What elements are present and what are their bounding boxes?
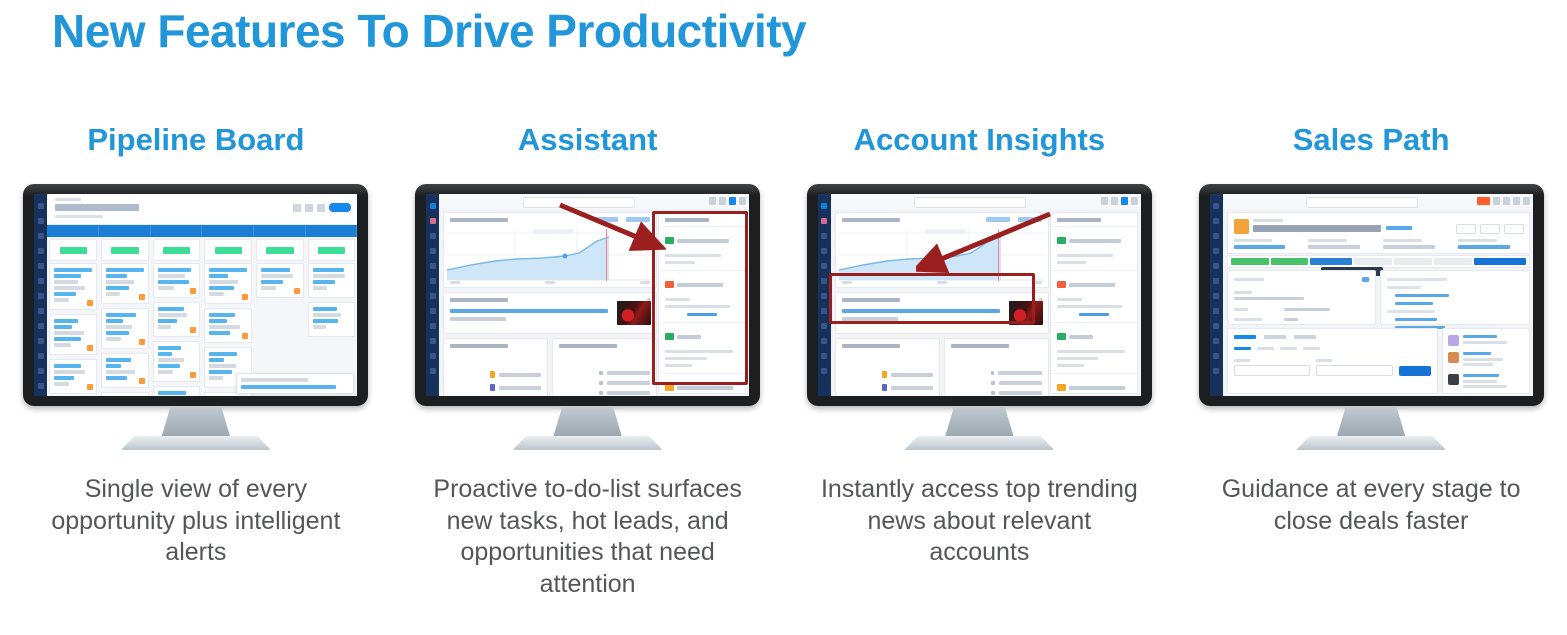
rail-icon (1213, 203, 1219, 209)
rank-number (599, 391, 603, 395)
alert-icon (87, 345, 93, 351)
rail-icon (430, 293, 436, 299)
activity-tabs[interactable] (1234, 335, 1316, 339)
activity-form (1234, 359, 1431, 376)
record-title (1253, 225, 1381, 232)
help-icon[interactable] (1101, 197, 1108, 205)
assistant-item[interactable] (659, 322, 745, 373)
inline-edit-icon[interactable] (1362, 277, 1369, 282)
rail-icon (430, 353, 436, 359)
list-item[interactable] (490, 384, 541, 391)
rank-number (991, 391, 995, 395)
rank-number (599, 371, 603, 375)
mark-stage-complete-button[interactable] (1474, 258, 1526, 265)
record-icon (490, 371, 495, 378)
feature-column-account-insights: Account Insights (784, 118, 1176, 600)
x-tick-label (842, 281, 852, 284)
stage-amount (308, 239, 356, 261)
record-highlight-fields (1234, 239, 1523, 249)
avatar (1448, 335, 1459, 346)
monitor-stand-base (513, 436, 663, 450)
header-icons[interactable] (1101, 197, 1138, 205)
feature-heading-account-insights: Account Insights (854, 118, 1105, 162)
global-header (1223, 194, 1533, 210)
filter-icon[interactable] (293, 204, 301, 212)
rank-number (991, 371, 995, 375)
record-detail-row (1227, 270, 1530, 325)
list-item[interactable] (599, 381, 650, 385)
x-tick-label (937, 281, 947, 284)
opportunity-card[interactable] (101, 353, 149, 388)
rail-icon (430, 338, 436, 344)
tab-collaborate[interactable] (1264, 335, 1286, 339)
record-type-label (1253, 219, 1283, 222)
kanban-column (101, 263, 149, 396)
feature-column-sales-path: Sales Path (1175, 118, 1567, 600)
rank-number (599, 381, 603, 385)
opportunity-card[interactable] (308, 263, 356, 298)
monitor-bezel (807, 184, 1152, 406)
tab-activity[interactable] (1234, 335, 1256, 339)
alert-icon (294, 288, 300, 294)
feature-heading-sales-path: Sales Path (1293, 118, 1450, 162)
chart-x-axis-labels (450, 281, 650, 284)
avatar (1448, 374, 1459, 385)
dashboard (831, 209, 1141, 396)
subtab-log-call[interactable] (1234, 347, 1251, 350)
app-nav-rail[interactable] (426, 194, 439, 396)
rail-icon (821, 308, 827, 314)
avatar[interactable] (1523, 197, 1530, 205)
follow-button[interactable] (1386, 226, 1412, 230)
alert-icon (190, 372, 196, 378)
rail-icon (821, 323, 827, 329)
performance-chart-panel (835, 212, 1049, 288)
news-thumbnail-image (1009, 301, 1043, 325)
opportunity-card[interactable] (308, 302, 356, 337)
rail-icon (1213, 293, 1219, 299)
field-amount (1383, 239, 1448, 249)
tab-details[interactable] (1294, 335, 1316, 339)
rail-icon (430, 203, 436, 209)
screenshot-record-sales-path (1210, 194, 1533, 396)
rail-icon (430, 308, 436, 314)
rail-icon (1213, 308, 1219, 314)
rail-icon (821, 368, 827, 374)
subtab-email[interactable] (1303, 347, 1320, 350)
performance-area-chart (447, 229, 652, 281)
assistant-item[interactable] (659, 270, 745, 322)
top-deals-title (559, 344, 617, 348)
news-panel-title (450, 298, 508, 302)
dashboard-main-column (443, 212, 657, 394)
kanban-column (49, 263, 97, 396)
chart-legend (594, 217, 650, 222)
stage-amount (204, 239, 252, 261)
avatar[interactable] (739, 197, 746, 205)
rail-icon (1213, 323, 1219, 329)
recent-records-list (842, 371, 933, 396)
stage-header[interactable] (151, 225, 203, 237)
notifications-icon[interactable] (1121, 197, 1128, 205)
recent-records-title (450, 344, 508, 348)
x-tick-label (640, 281, 650, 284)
related-record-link[interactable] (1395, 318, 1437, 321)
path-stage-upcoming[interactable] (1354, 258, 1392, 265)
opportunity-icon (665, 384, 674, 391)
chatter-feed-panel (1442, 328, 1530, 394)
chart-panel-title (450, 218, 508, 222)
goal-marker-line (998, 229, 999, 281)
opportunity-card[interactable] (204, 263, 252, 304)
global-header (831, 194, 1141, 210)
stage-amount (49, 239, 97, 261)
alert-icon (242, 333, 248, 339)
stage-amount (256, 239, 304, 261)
amount-value (60, 247, 87, 254)
search-input[interactable] (914, 197, 1026, 208)
legend-swatch (594, 217, 618, 222)
feed-item[interactable] (1448, 374, 1524, 390)
avatar (1448, 352, 1459, 363)
rail-icon (38, 293, 44, 299)
global-header (439, 194, 749, 210)
top-deals-list (559, 371, 650, 396)
news-headline-link[interactable] (842, 309, 1000, 313)
notifications-icon[interactable] (729, 197, 736, 205)
amount-value (266, 247, 293, 254)
assistant-list-panel (658, 212, 746, 394)
x-tick-label (450, 281, 460, 284)
alert-icon (190, 288, 196, 294)
list-item[interactable] (882, 384, 933, 391)
activity-panel (1227, 328, 1438, 394)
gear-icon[interactable] (317, 204, 325, 212)
top-deals-panel (552, 338, 657, 396)
rail-icon (38, 383, 44, 389)
alert-icon (87, 300, 93, 306)
monitor-stand-base (121, 436, 271, 450)
feature-column-assistant: Assistant (392, 118, 784, 600)
path-stage-current[interactable] (1310, 258, 1352, 265)
monitor-stand-neck (1336, 406, 1406, 439)
screenshot-kanban-pipeline (34, 194, 357, 396)
path-stage-completed[interactable] (1271, 258, 1309, 265)
rail-icon (821, 353, 827, 359)
kanban-board (47, 194, 357, 396)
amount-value (215, 247, 242, 254)
rail-icon (821, 338, 827, 344)
past-close-date-tooltip (236, 373, 354, 394)
rail-icon (1213, 368, 1219, 374)
path-stage-upcoming[interactable] (1394, 258, 1432, 265)
performance-area-chart (839, 229, 1044, 281)
setup-icon[interactable] (1111, 197, 1118, 205)
slide-root: New Features To Drive Productivity Pipel… (0, 0, 1567, 635)
dashboard (439, 209, 749, 396)
rail-icon (1213, 353, 1219, 359)
related-record-link[interactable] (1395, 294, 1449, 297)
assistant-item[interactable] (1051, 226, 1137, 270)
search-input[interactable] (1306, 197, 1418, 208)
alert-icon (139, 339, 145, 345)
alert-icon (139, 294, 145, 300)
rail-icon (821, 203, 827, 209)
amount-value (111, 247, 138, 254)
opportunity-card[interactable] (101, 308, 149, 349)
dashboard-lower-panels (443, 338, 657, 396)
rail-icon (38, 263, 44, 269)
recent-records-panel (835, 338, 940, 396)
dashboard-main-column (835, 212, 1049, 394)
kanban-page-header (47, 194, 357, 225)
delete-button[interactable] (1480, 224, 1500, 234)
rail-icon (430, 263, 436, 269)
comments-field[interactable] (1316, 359, 1393, 376)
rail-icon (38, 323, 44, 329)
rail-icon (38, 218, 44, 224)
monitor-assistant (415, 184, 760, 452)
list-item[interactable] (991, 381, 1042, 385)
assistant-panel-title (665, 218, 709, 222)
opportunity-card[interactable] (49, 263, 97, 310)
feature-heading-pipeline-board: Pipeline Board (87, 118, 304, 162)
x-tick-label (545, 281, 555, 284)
x-tick-label (1032, 281, 1042, 284)
view-all-link[interactable] (1079, 313, 1109, 316)
feature-caption-account-insights: Instantly access top trending news about… (814, 474, 1144, 569)
kanban-stage-header-row (47, 225, 357, 237)
list-item[interactable] (599, 371, 650, 375)
amount-value (318, 247, 345, 254)
record-icon (490, 384, 495, 391)
record-icon (882, 384, 887, 391)
view-all-link[interactable] (687, 313, 717, 316)
alert-icon (139, 378, 145, 384)
alert-icon (190, 327, 196, 333)
goal-marker-line (606, 229, 607, 281)
task-icon (1057, 333, 1066, 340)
assistant-item[interactable] (1051, 270, 1137, 322)
subtab-new-task[interactable] (1257, 347, 1274, 350)
subject-field[interactable] (1234, 359, 1311, 376)
news-panel-title (842, 298, 900, 302)
assistant-item[interactable] (659, 226, 745, 270)
rail-icon (1213, 278, 1219, 284)
header-icons[interactable] (709, 197, 746, 205)
search-input[interactable] (523, 197, 635, 208)
list-item[interactable] (882, 371, 933, 378)
opportunity-card[interactable] (256, 263, 304, 298)
rail-icon (821, 278, 827, 284)
app-nav-rail[interactable] (818, 194, 831, 396)
opportunity-card[interactable] (153, 302, 201, 337)
path-stage-upcoming[interactable] (1434, 258, 1472, 265)
chart-legend (986, 217, 1042, 222)
setup-icon[interactable] (719, 197, 726, 205)
app-nav-rail[interactable] (1210, 194, 1223, 396)
kanban-title (55, 204, 139, 211)
app-nav-rail[interactable] (34, 194, 47, 396)
opportunity-object-icon (1234, 219, 1249, 234)
opportunity-icon (1057, 384, 1066, 391)
task-icon (665, 237, 674, 244)
breadcrumb (55, 198, 81, 201)
save-button[interactable] (1399, 366, 1431, 376)
assistant-item[interactable] (1051, 322, 1137, 373)
chart-icon[interactable] (305, 204, 313, 212)
field-close-date (1308, 239, 1373, 249)
rail-icon (430, 248, 436, 254)
assistant-item[interactable] (659, 373, 745, 394)
edit-button[interactable] (1456, 224, 1476, 234)
header-icons[interactable] (1477, 197, 1530, 205)
opportunity-card[interactable] (153, 341, 201, 382)
rail-icon (38, 338, 44, 344)
chart-panel-title (842, 218, 900, 222)
rail-icon (821, 233, 827, 239)
stage-header[interactable] (202, 225, 254, 237)
kanban-action-bar[interactable] (293, 203, 351, 212)
account-news-panel (443, 292, 657, 334)
rail-icon (821, 218, 827, 224)
stage-header[interactable] (47, 225, 99, 237)
feature-columns: Pipeline Board (0, 118, 1567, 600)
rail-icon (38, 278, 44, 284)
news-thumbnail-image (617, 301, 651, 325)
feature-caption-sales-path: Guidance at every stage to close deals f… (1206, 474, 1536, 537)
stage-header[interactable] (306, 225, 358, 237)
opportunity-card[interactable] (153, 263, 201, 298)
rail-icon (38, 308, 44, 314)
new-opportunity-button[interactable] (329, 203, 351, 212)
monitor-sales-path (1199, 184, 1544, 452)
monitor-bezel (1199, 184, 1544, 406)
rail-icon (430, 218, 436, 224)
dashboard-lower-panels (835, 338, 1049, 396)
rail-icon (38, 368, 44, 374)
record-action-buttons[interactable] (1456, 224, 1524, 234)
monitor-stand-base (1296, 436, 1446, 450)
top-deals-title (951, 344, 1009, 348)
rail-icon (821, 248, 827, 254)
avatar[interactable] (1131, 197, 1138, 205)
stage-header[interactable] (254, 225, 306, 237)
assistant-item[interactable] (1051, 373, 1137, 394)
performance-chart-panel (443, 212, 657, 288)
feature-caption-assistant: Proactive to-do-list surfaces new tasks,… (423, 474, 753, 600)
opportunity-card[interactable] (101, 263, 149, 304)
amount-value (163, 247, 190, 254)
stage-amount (101, 239, 149, 261)
list-item[interactable] (991, 391, 1042, 395)
record-details-panel (1227, 270, 1377, 325)
recent-records-title (842, 344, 900, 348)
activity-subtabs[interactable] (1234, 347, 1320, 350)
opportunity-card[interactable] (204, 308, 252, 343)
rail-icon (821, 263, 827, 269)
monitor-bezel (415, 184, 760, 406)
field-account (1234, 239, 1299, 249)
rail-icon (38, 233, 44, 239)
account-news-panel (835, 292, 1049, 334)
stage-header[interactable] (99, 225, 151, 237)
rail-icon (38, 248, 44, 254)
notifications-icon[interactable] (1513, 197, 1520, 205)
record-header (1227, 212, 1530, 254)
monitor-stand-neck (161, 406, 231, 439)
news-headline-link[interactable] (450, 309, 608, 313)
assistant-panel-title (1057, 218, 1101, 222)
top-deals-panel (944, 338, 1049, 396)
opportunity-card[interactable] (49, 359, 97, 394)
rail-icon (1213, 233, 1219, 239)
path-stage-completed[interactable] (1231, 258, 1269, 265)
news-source-label (450, 317, 506, 321)
screenshot-dashboard-assistant (426, 194, 749, 396)
related-list-section-title (1387, 310, 1435, 313)
clone-button[interactable] (1504, 224, 1524, 234)
kanban-stage-amounts (47, 239, 357, 261)
feed-item[interactable] (1448, 335, 1524, 346)
opportunity-card[interactable] (101, 392, 149, 396)
stage-amount (153, 239, 201, 261)
alert-icon (242, 294, 248, 300)
monitor-bezel (23, 184, 368, 406)
rail-icon (430, 323, 436, 329)
recent-records-panel (443, 338, 548, 396)
subtab-new-event[interactable] (1280, 347, 1297, 350)
monitor-stand-neck (553, 406, 623, 439)
alert-icon (87, 384, 93, 390)
monitor-stand-neck (944, 406, 1014, 439)
legend-swatch (1018, 217, 1042, 222)
related-record-link[interactable] (1395, 302, 1433, 305)
recent-records-list (450, 371, 541, 396)
legend-swatch (626, 217, 650, 222)
screenshot-dashboard-account-news (818, 194, 1141, 396)
feed-item[interactable] (1448, 352, 1524, 368)
top-deals-list (951, 371, 1042, 396)
help-icon[interactable] (1493, 197, 1500, 205)
monitor-account-insights (807, 184, 1152, 452)
feature-column-pipeline-board: Pipeline Board (0, 118, 392, 600)
list-item[interactable] (490, 371, 541, 378)
legend-swatch (986, 217, 1010, 222)
kanban-columns (47, 263, 357, 396)
kanban-column (256, 263, 304, 396)
rail-icon (38, 203, 44, 209)
record-footer-row (1227, 328, 1530, 394)
lead-icon (665, 281, 674, 288)
assistant-list-panel (1050, 212, 1138, 394)
rail-icon (430, 233, 436, 239)
rail-icon (430, 368, 436, 374)
list-item[interactable] (599, 391, 650, 395)
setup-icon[interactable] (1503, 197, 1510, 205)
help-icon[interactable] (709, 197, 716, 205)
task-icon (665, 333, 674, 340)
app-launcher-icon[interactable] (1477, 197, 1490, 205)
news-source-label (842, 317, 898, 321)
task-icon (1057, 237, 1066, 244)
feature-heading-assistant: Assistant (518, 118, 658, 162)
related-list-header (1387, 278, 1447, 281)
opportunity-card[interactable] (49, 314, 97, 355)
list-item[interactable] (991, 371, 1042, 375)
rail-icon (1213, 218, 1219, 224)
opportunity-card[interactable] (153, 386, 201, 396)
